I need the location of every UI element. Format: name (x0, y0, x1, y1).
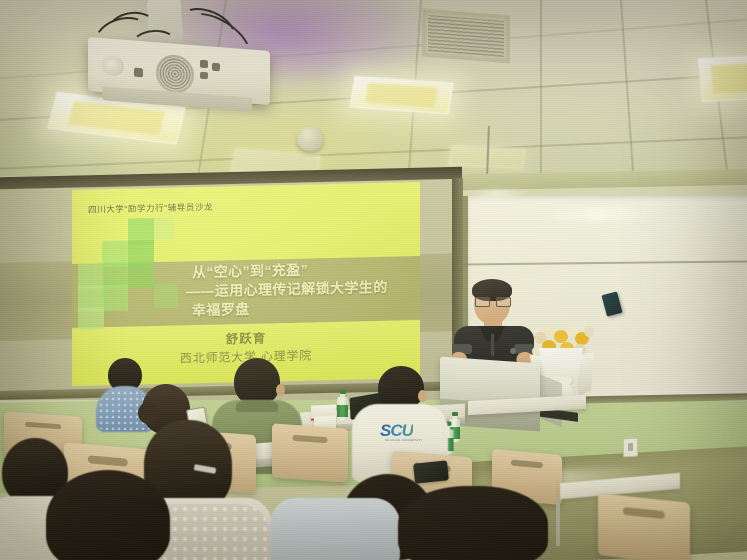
slide-title: 从“空心”到“充盈” ——运用心理传记解锁大学生的 幸福罗盘 (192, 258, 420, 320)
presenter-glasses (475, 297, 509, 305)
audience-member (46, 470, 170, 560)
slide-mosaic-square (154, 218, 174, 240)
slide-mosaic-square (78, 307, 104, 330)
scu-logo-subtext: SICHUAN UNIVERSITY (385, 438, 423, 442)
smartphone[interactable] (413, 460, 449, 483)
presenter-shirt-badge (510, 348, 516, 354)
bottle-cap (452, 412, 458, 416)
projector-port (212, 63, 220, 72)
audience-head (46, 470, 170, 560)
light-panel-inner (68, 101, 166, 136)
projector-port (134, 68, 143, 78)
audience-collar (236, 400, 278, 412)
air-vent-grill (428, 15, 504, 57)
lecture-hall-photo: 四川大学“励学力行”辅导员沙龙 从“空心”到“充盈” ——运用心理传记解锁大学生… (0, 0, 747, 560)
slide-mosaic-square (102, 285, 128, 312)
light-panel-inner (711, 62, 747, 93)
chair-handle-cutout (293, 434, 328, 443)
chair-handle-cutout (25, 421, 61, 429)
audience-ear (276, 384, 285, 396)
air-vent (422, 9, 510, 64)
ceiling (0, 0, 747, 190)
light-panel-inner (365, 82, 438, 107)
audience-member (398, 486, 548, 560)
projector-port (200, 60, 208, 69)
chair-leg (556, 498, 560, 546)
presentation-slide: 四川大学“励学力行”辅导员沙龙 从“空心”到“充盈” ——运用心理传记解锁大学生… (72, 182, 420, 386)
ceiling-tile-line (540, 0, 542, 190)
slide-mosaic-square (128, 262, 154, 289)
ceiling-light-panel (698, 54, 747, 102)
audience-head (234, 358, 280, 406)
water-bottle[interactable] (337, 390, 348, 420)
smoke-detector (297, 127, 323, 151)
wall-outlet[interactable] (623, 438, 638, 458)
slide-mosaic-square (154, 284, 178, 309)
audience-member (270, 498, 390, 560)
bottle-label (337, 405, 348, 417)
chair[interactable] (598, 493, 690, 560)
projector-port (200, 72, 208, 80)
chair-handle-cutout (511, 460, 543, 469)
audience-torso (270, 498, 400, 560)
presenter-shirt-placket (491, 334, 494, 356)
bouquet-flower (584, 326, 594, 337)
ceiling-light-panel (349, 76, 453, 115)
audience-head (398, 486, 548, 560)
bottle-cap (340, 390, 346, 394)
ceiling-projector (88, 8, 278, 103)
whiteboard-glare (467, 188, 527, 200)
audience-ear (418, 390, 427, 402)
chair-handle-cutout (623, 507, 665, 519)
